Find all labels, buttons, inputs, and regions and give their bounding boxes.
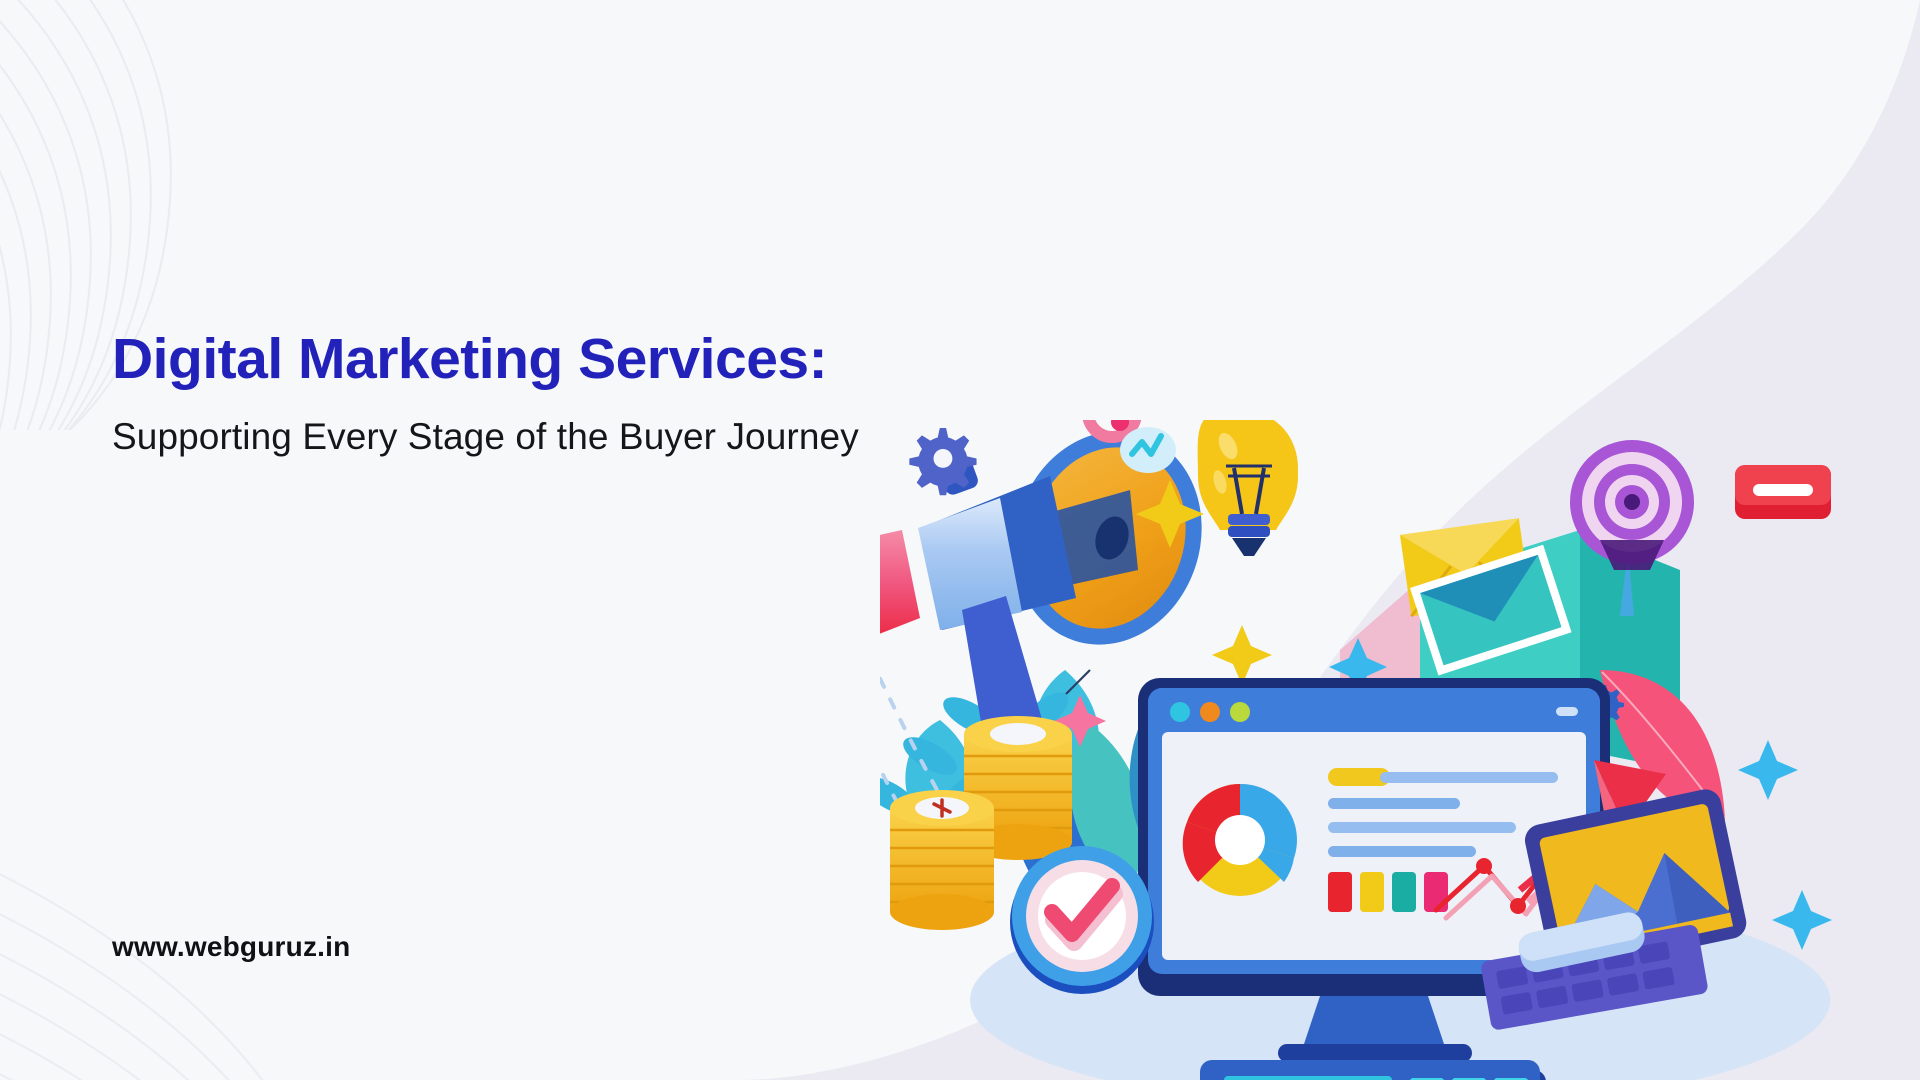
sparkle-icon-right [1772, 890, 1832, 950]
website-url[interactable]: www.webguruz.in [112, 931, 350, 963]
gear-icon [909, 428, 976, 495]
keyboard [1200, 1060, 1546, 1080]
activity-bubble-icon [1120, 427, 1176, 473]
lightbulb-icon [1198, 420, 1298, 556]
window-dots [1170, 702, 1250, 722]
page-title: Digital Marketing Services: [112, 330, 1112, 390]
notification-badge [1735, 465, 1831, 519]
slide-canvas: Digital Marketing Services: Supporting E… [0, 0, 1920, 1080]
digital-marketing-illustration [880, 420, 1920, 1080]
corner-wave-pattern-bottom-left [0, 740, 420, 1080]
checkmark-badge [1010, 846, 1154, 994]
